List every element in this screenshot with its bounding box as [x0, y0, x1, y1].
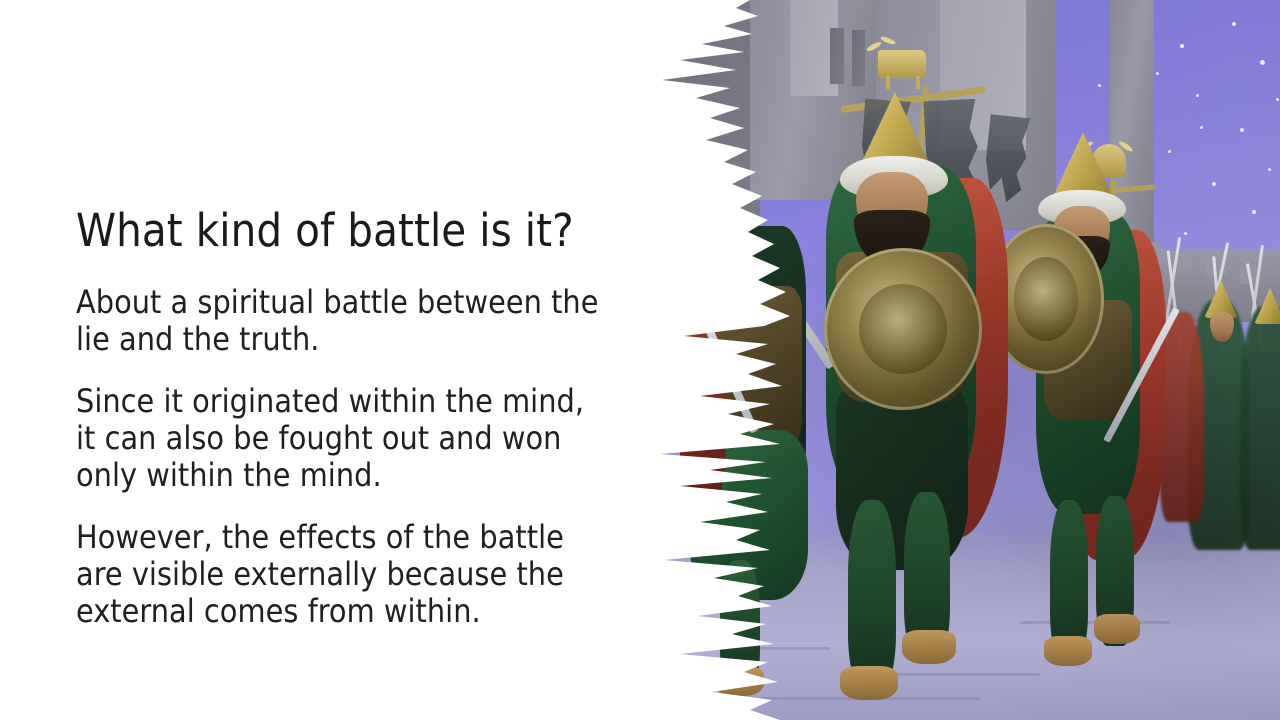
- background-cape-red-far: [1160, 312, 1204, 522]
- bull-leg-2: [916, 76, 920, 89]
- warrior-right-sandal-1: [1044, 636, 1092, 666]
- body-paragraph-2: Since it originated within the mind, it …: [76, 383, 606, 494]
- bull-leg-1: [886, 76, 890, 89]
- warrior-main-sandal-2: [902, 630, 956, 664]
- warrior-main-leg-1: [848, 500, 896, 690]
- text-content-block: What kind of battle is it? About a spiri…: [76, 204, 606, 630]
- warriors-illustration: [640, 0, 1280, 720]
- warrior-right-sandal-2: [1094, 614, 1140, 644]
- warrior-main-shield: [824, 248, 982, 410]
- city-window-b: [852, 30, 865, 86]
- page-title: What kind of battle is it?: [76, 204, 606, 258]
- golden-bull-standard: [878, 50, 926, 78]
- warrior-left-sandal: [714, 666, 764, 696]
- slide-canvas: What kind of battle is it? About a spiri…: [0, 0, 1280, 720]
- warrior-main-sandal-1: [840, 666, 898, 700]
- body-paragraph-3: However, the effects of the battle are v…: [76, 519, 606, 630]
- background-warrior-far-2: [1240, 306, 1280, 550]
- city-window-a: [830, 28, 844, 84]
- body-paragraph-1: About a spiritual battle between the lie…: [76, 284, 606, 358]
